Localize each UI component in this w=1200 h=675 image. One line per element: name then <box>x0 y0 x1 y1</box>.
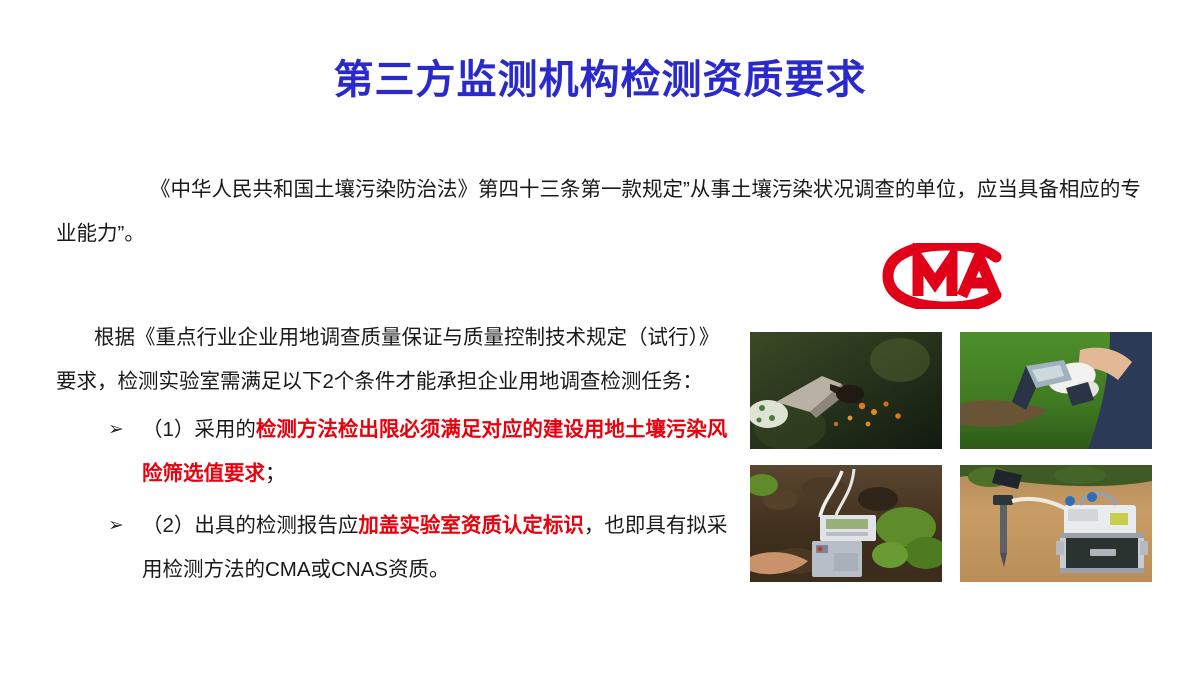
list-item-text: （2）出具的检测报告应加盖实验室资质认定标识，也即具有拟采用检测方法的CMA或C… <box>142 504 728 592</box>
photo-soil-gas-sampling-pump <box>960 465 1152 582</box>
photo-grid <box>750 332 1152 582</box>
list-item: ➢ （1）采用的检测方法检出限必须满足对应的建设用地土壤污染风险筛选值要求； <box>56 408 728 496</box>
list-item: ➢ （2）出具的检测报告应加盖实验室资质认定标识，也即具有拟采用检测方法的CMA… <box>56 504 728 592</box>
bullet-2-emphasis: 加盖实验室资质认定标识 <box>358 514 584 537</box>
cma-certification-mark-icon <box>878 243 1024 309</box>
conditions-list: ➢ （1）采用的检测方法检出限必须满足对应的建设用地土壤污染风险筛选值要求； ➢… <box>56 408 728 600</box>
photo-handheld-xrf-analyzer <box>960 332 1152 449</box>
arrow-bullet-icon: ➢ <box>108 504 124 548</box>
list-item-text: （1）采用的检测方法检出限必须满足对应的建设用地土壤污染风险筛选值要求； <box>142 408 728 496</box>
slide-root: 第三方监测机构检测资质要求 《中华人民共和国土壤污染防治法》第四十三条第一款规定… <box>0 0 1200 675</box>
paragraph-technical-regulation: 根据《重点行业企业用地调查质量保证与质量控制技术规定（试行）》要求，检测实验室需… <box>56 316 728 404</box>
bullet-1-prefix: （1）采用的 <box>142 418 256 441</box>
bullet-2-prefix: （2）出具的检测报告应 <box>142 514 358 537</box>
bullet-1-suffix: ； <box>265 462 286 485</box>
arrow-bullet-icon: ➢ <box>108 408 124 452</box>
photo-soil-sampling-scoop <box>750 332 942 449</box>
page-title: 第三方监测机构检测资质要求 <box>0 56 1200 104</box>
photo-portable-field-meter <box>750 465 942 582</box>
